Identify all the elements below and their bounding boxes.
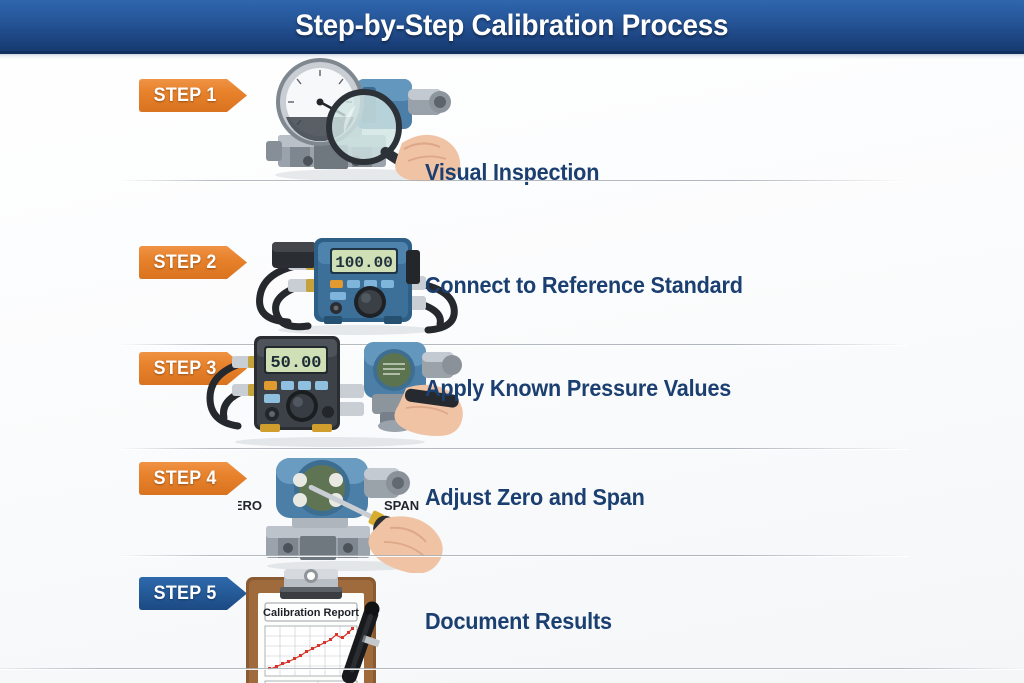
lcd-display: 50.00 <box>264 346 328 374</box>
report-sheet: Calibration Report <box>263 603 359 621</box>
infographic-page: Step-by-Step Calibration Process STEP 1 <box>0 0 1024 683</box>
step-badge-label-1: STEP 1 <box>141 85 216 107</box>
step-row-5: STEP 5 <box>0 515 1024 683</box>
lcd-display: 100.00 <box>330 248 398 274</box>
step-badge-1[interactable]: STEP 1 <box>139 79 247 112</box>
annotation-span: SPAN <box>384 498 419 513</box>
step-title-5: Document Results <box>425 608 612 635</box>
adjustment-screw-span <box>329 473 343 487</box>
report-title: Calibration Report <box>263 607 359 619</box>
metal-clip <box>280 569 342 599</box>
step-row-1: STEP 1 <box>0 60 1024 185</box>
step-badge-label-4: STEP 4 <box>141 468 216 490</box>
step-badge-2[interactable]: STEP 2 <box>139 246 247 279</box>
step-title-4: Adjust Zero and Span <box>425 484 645 511</box>
calibrator-display-value-2: 100.00 <box>335 254 393 272</box>
step-badge-4[interactable]: STEP 4 <box>139 462 247 495</box>
annotation-zero: ZERO <box>238 498 262 513</box>
step-row-2: STEP 2 <box>0 184 1024 296</box>
adjustment-screw-zero <box>293 473 307 487</box>
step-row-3: STEP 3 <box>0 286 1024 408</box>
step-title-1: Visual Inspection <box>425 159 599 186</box>
page-title: Step-by-Step Calibration Process <box>296 9 729 43</box>
header-banner: Step-by-Step Calibration Process <box>0 0 1024 54</box>
step-badge-label-5: STEP 5 <box>141 583 216 605</box>
calibrator-display-value-3: 50.00 <box>270 354 321 373</box>
step-badge-5[interactable]: STEP 5 <box>139 577 247 610</box>
step-badge-label-2: STEP 2 <box>141 252 216 274</box>
row-divider-5 <box>0 668 1024 669</box>
step-title-3: Apply Known Pressure Values <box>425 375 731 402</box>
row-divider-1 <box>118 180 908 181</box>
illustration-document-results: Calibration Report <box>238 563 418 683</box>
steps-container: STEP 1 <box>0 60 1024 683</box>
